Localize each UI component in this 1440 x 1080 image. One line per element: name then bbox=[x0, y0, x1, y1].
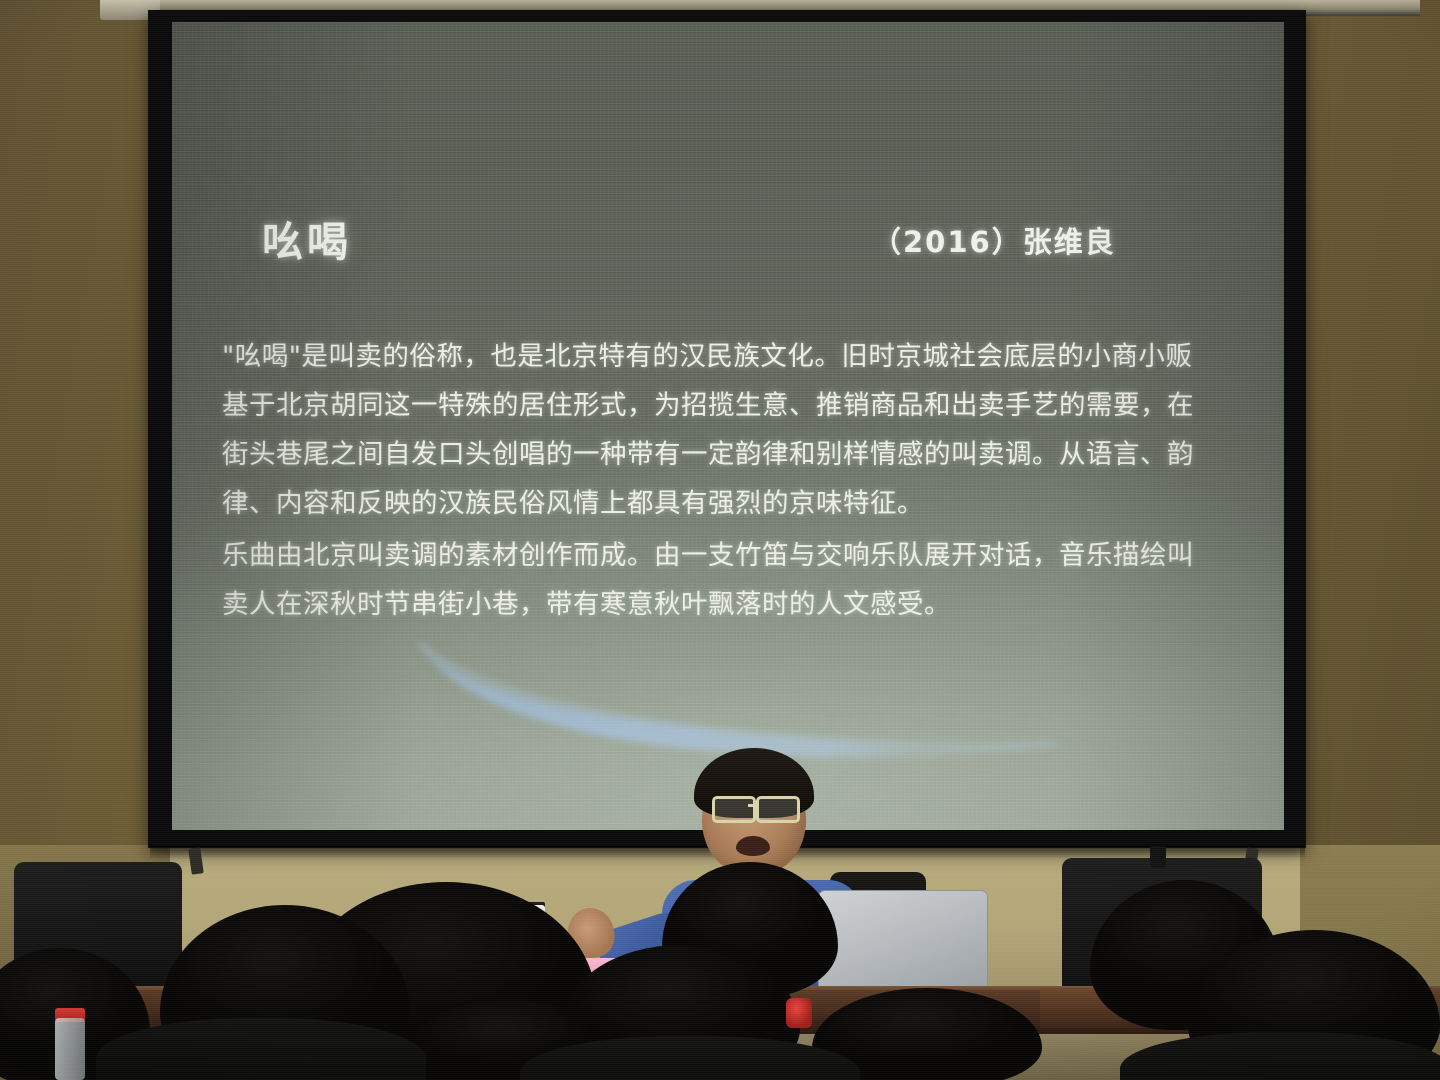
presenter-glasses-bridge-icon bbox=[748, 804, 758, 807]
apple-logo-icon bbox=[890, 925, 916, 953]
screen-texture bbox=[172, 22, 1284, 830]
slide-body-line: "吆喝"是叫卖的俗称，也是北京特有的汉民族文化。旧时京城社会底层的小商小贩 bbox=[222, 332, 1257, 381]
slide-body-line: 基于北京胡同这一特殊的居住形式，为招揽生意、推销商品和出卖手艺的需要，在 bbox=[222, 381, 1257, 430]
slide-body: "吆喝"是叫卖的俗称，也是北京特有的汉民族文化。旧时京城社会底层的小商小贩 基于… bbox=[222, 332, 1257, 629]
swoosh-decoration-icon bbox=[410, 634, 1070, 764]
slide-credit: （2016）张维良 bbox=[872, 219, 1116, 261]
macbook-laptop bbox=[818, 890, 988, 992]
chair-stem-right bbox=[1150, 846, 1166, 868]
slide-body-line: 卖人在深秋时节串街小巷，带有寒意秋叶飘落时的人文感受。 bbox=[222, 580, 1257, 629]
presentation-slide: 吆喝 （2016）张维良 "吆喝"是叫卖的俗称，也是北京特有的汉民族文化。旧时京… bbox=[172, 22, 1284, 830]
macbook-lid bbox=[818, 890, 988, 992]
projection-screen: 吆喝 （2016）张维良 "吆喝"是叫卖的俗称，也是北京特有的汉民族文化。旧时京… bbox=[172, 22, 1284, 830]
presenter-glasses-right-lens-icon bbox=[756, 796, 800, 823]
audience-red-object bbox=[786, 998, 812, 1028]
water-bottle bbox=[55, 1018, 85, 1080]
presenter-mouth bbox=[736, 836, 770, 856]
slide-body-line: 乐曲由北京叫卖调的素材创作而成。由一支竹笛与交响乐队展开对话，音乐描绘叫 bbox=[222, 531, 1257, 580]
presenter-glasses-left-lens-icon bbox=[712, 796, 756, 823]
slide-body-line: 律、内容和反映的汉族民俗风情上都具有强烈的京味特征。 bbox=[222, 479, 1257, 528]
slide-body-line: 街头巷尾之间自发口头创唱的一种带有一定韵律和别样情感的叫卖调。从语言、韵 bbox=[222, 430, 1257, 479]
lecture-photo-scene: 吆喝 （2016）张维良 "吆喝"是叫卖的俗称，也是北京特有的汉民族文化。旧时京… bbox=[0, 0, 1440, 1080]
slide-title: 吆喝 bbox=[262, 208, 352, 268]
